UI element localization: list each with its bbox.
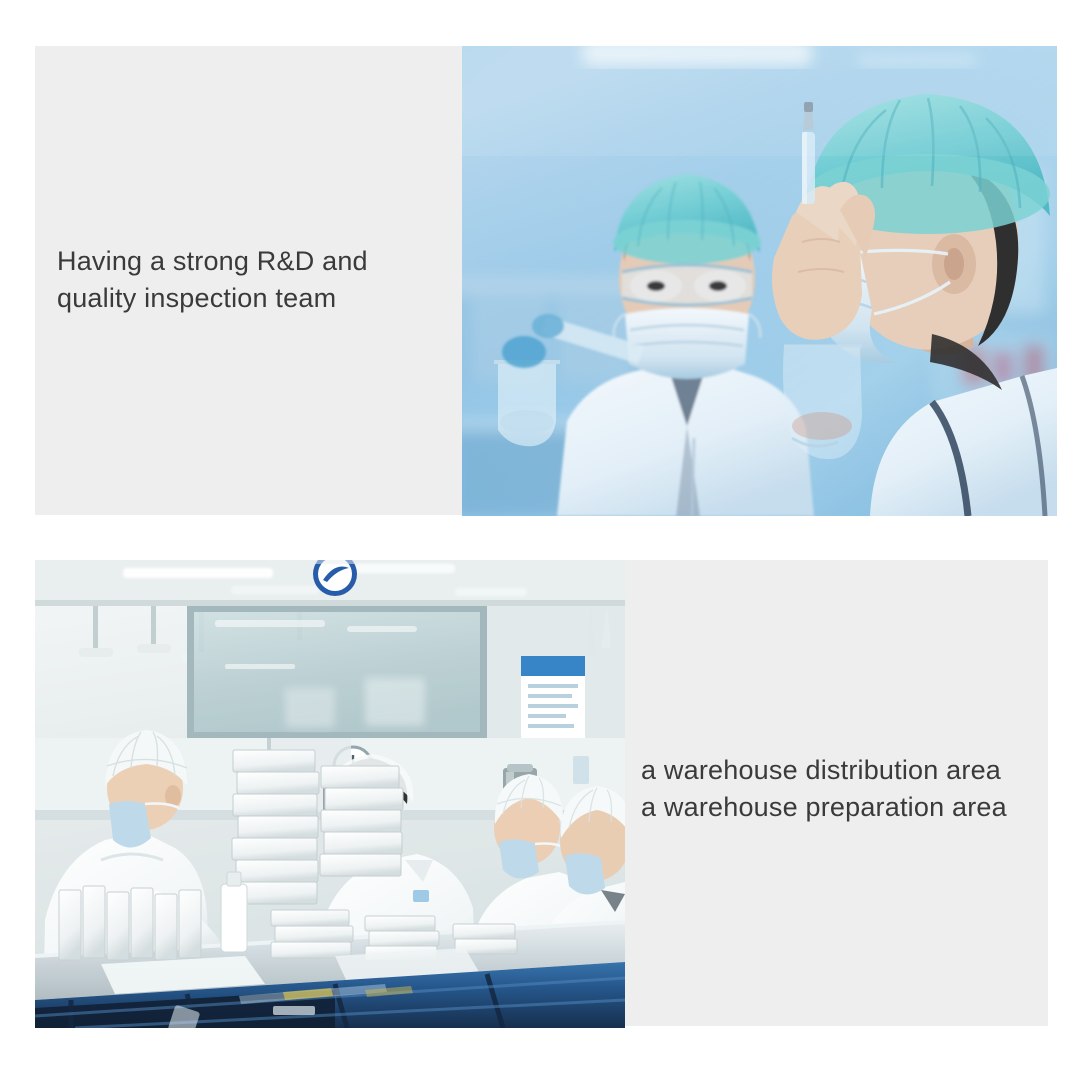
bottom-caption-line-1: a warehouse distribution area bbox=[641, 752, 1007, 789]
bottom-caption-line-2: a warehouse preparation area bbox=[641, 789, 1007, 826]
lab-quality-inspection-photo bbox=[462, 46, 1057, 516]
bottom-caption: a warehouse distribution area a warehous… bbox=[641, 752, 1007, 826]
top-caption-line-1: Having a strong R&D and bbox=[57, 243, 368, 280]
top-caption: Having a strong R&D and quality inspecti… bbox=[57, 243, 368, 317]
top-caption-line-2: quality inspection team bbox=[57, 280, 368, 317]
collage-canvas: Having a strong R&D and quality inspecti… bbox=[0, 0, 1080, 1080]
warehouse-packaging-photo bbox=[35, 560, 625, 1028]
